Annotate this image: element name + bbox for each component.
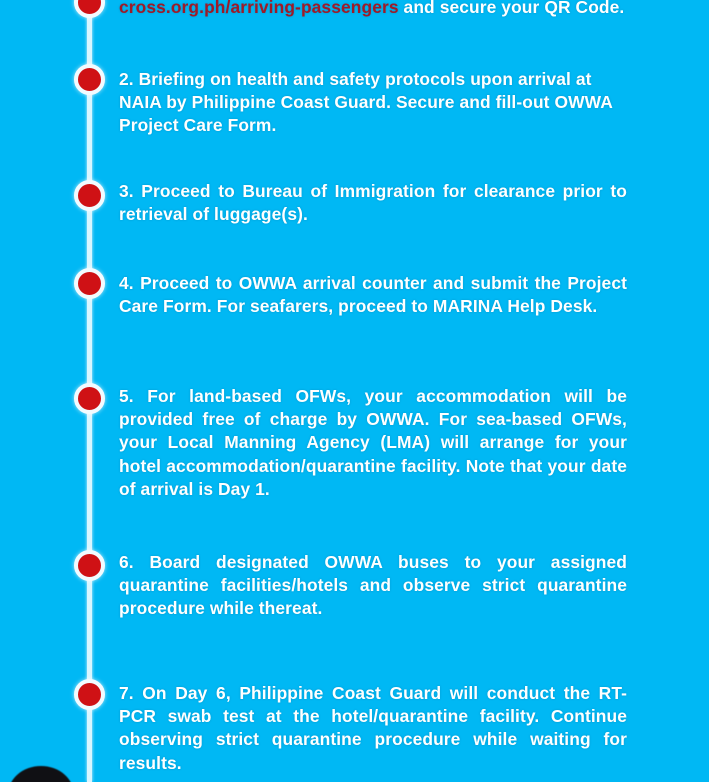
step-text-1: cross.org.ph/arriving-passengers and sec… [119,0,627,19]
crossborder-link[interactable]: cross.org.ph/arriving-passengers [119,0,399,17]
step-marker-1 [74,0,105,18]
step-marker-5 [74,383,105,414]
step-text-6: 6. Board designated OWWA buses to your a… [119,551,627,621]
step-marker-7 [74,679,105,710]
step-text-4: 4. Proceed to OWWA arrival counter and s… [119,272,627,318]
step-marker-3 [74,180,105,211]
step-text-7: 7. On Day 6, Philippine Coast Guard will… [119,682,627,775]
infographic-canvas: cross.org.ph/arriving-passengers and sec… [0,0,709,782]
step-marker-6 [74,550,105,581]
step-text-5: 5. For land-based OFWs, your accommodati… [119,385,627,501]
step-text-3: 3. Proceed to Bureau of Immigration for … [119,180,627,226]
step-text-2: 2. Briefing on health and safety protoco… [119,68,627,138]
step-1-trailing-text: and secure your QR Code. [399,0,625,17]
step-marker-4 [74,268,105,299]
step-marker-2 [74,64,105,95]
person-silhouette-icon [8,766,74,782]
